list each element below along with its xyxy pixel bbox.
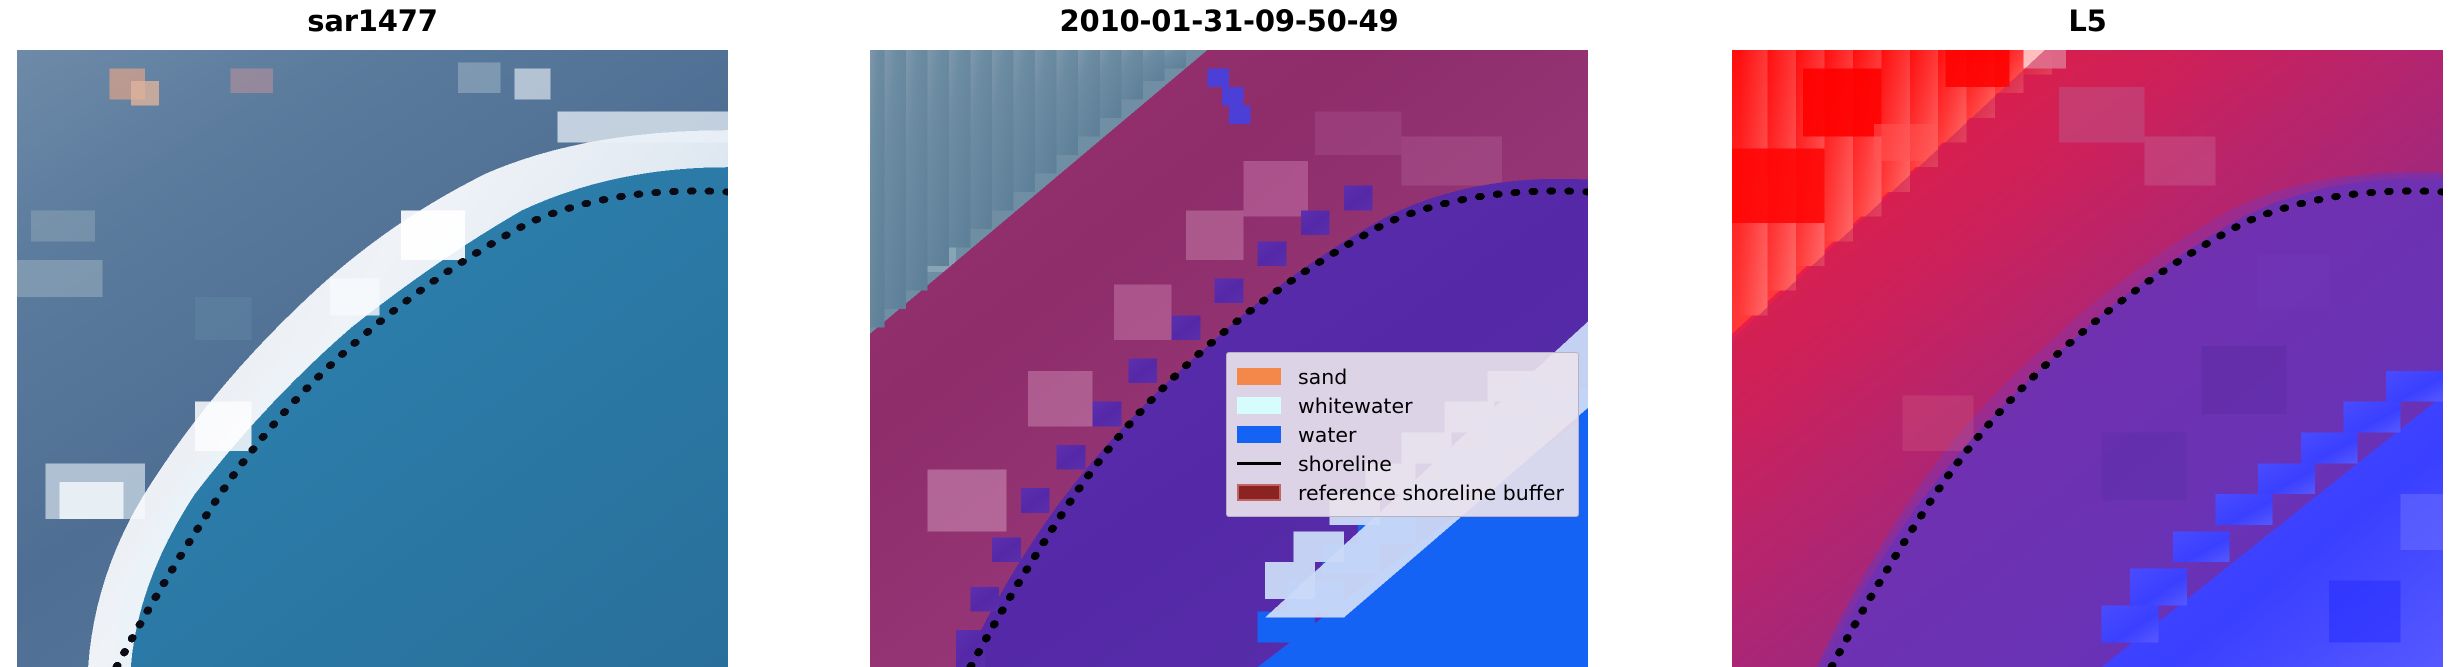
whitewater-swatch <box>1237 397 1281 414</box>
panel-index-axes <box>1732 50 2443 667</box>
map-legend: sand whitewater water shoreline referenc <box>1226 352 1579 517</box>
panel-rgb: sar1477 <box>17 0 728 667</box>
panel-rgb-title: sar1477 <box>17 0 728 50</box>
index-colormap-raster <box>1732 50 2443 667</box>
legend-label-water: water <box>1298 423 1356 447</box>
legend-item-shoreline: shoreline <box>1237 449 1564 478</box>
shoreline-line-swatch <box>1237 455 1281 472</box>
legend-label-sand: sand <box>1298 365 1347 389</box>
panel-index-title: L5 <box>1732 0 2443 50</box>
legend-item-whitewater: whitewater <box>1237 391 1564 420</box>
reference-shoreline-buffer-swatch <box>1237 484 1281 501</box>
legend-item-water: water <box>1237 420 1564 449</box>
water-swatch <box>1237 426 1281 443</box>
legend-label-reference-shoreline-buffer: reference shoreline buffer <box>1298 481 1564 505</box>
legend-item-sand: sand <box>1237 362 1564 391</box>
legend-label-shoreline: shoreline <box>1298 452 1392 476</box>
panel-classified-title: 2010-01-31-09-50-49 <box>870 0 1588 50</box>
panel-index: L5 <box>1732 0 2443 667</box>
legend-item-reference-shoreline-buffer: reference shoreline buffer <box>1237 478 1564 507</box>
panel-classified-axes: sand whitewater water shoreline referenc <box>870 50 1588 667</box>
sand-swatch <box>1237 368 1281 385</box>
panel-rgb-axes <box>17 50 728 667</box>
panel-classified: 2010-01-31-09-50-49 <box>870 0 1588 667</box>
figure-canvas: sar1477 <box>0 0 2460 667</box>
rgb-satellite-raster <box>17 50 728 667</box>
legend-label-whitewater: whitewater <box>1298 394 1413 418</box>
